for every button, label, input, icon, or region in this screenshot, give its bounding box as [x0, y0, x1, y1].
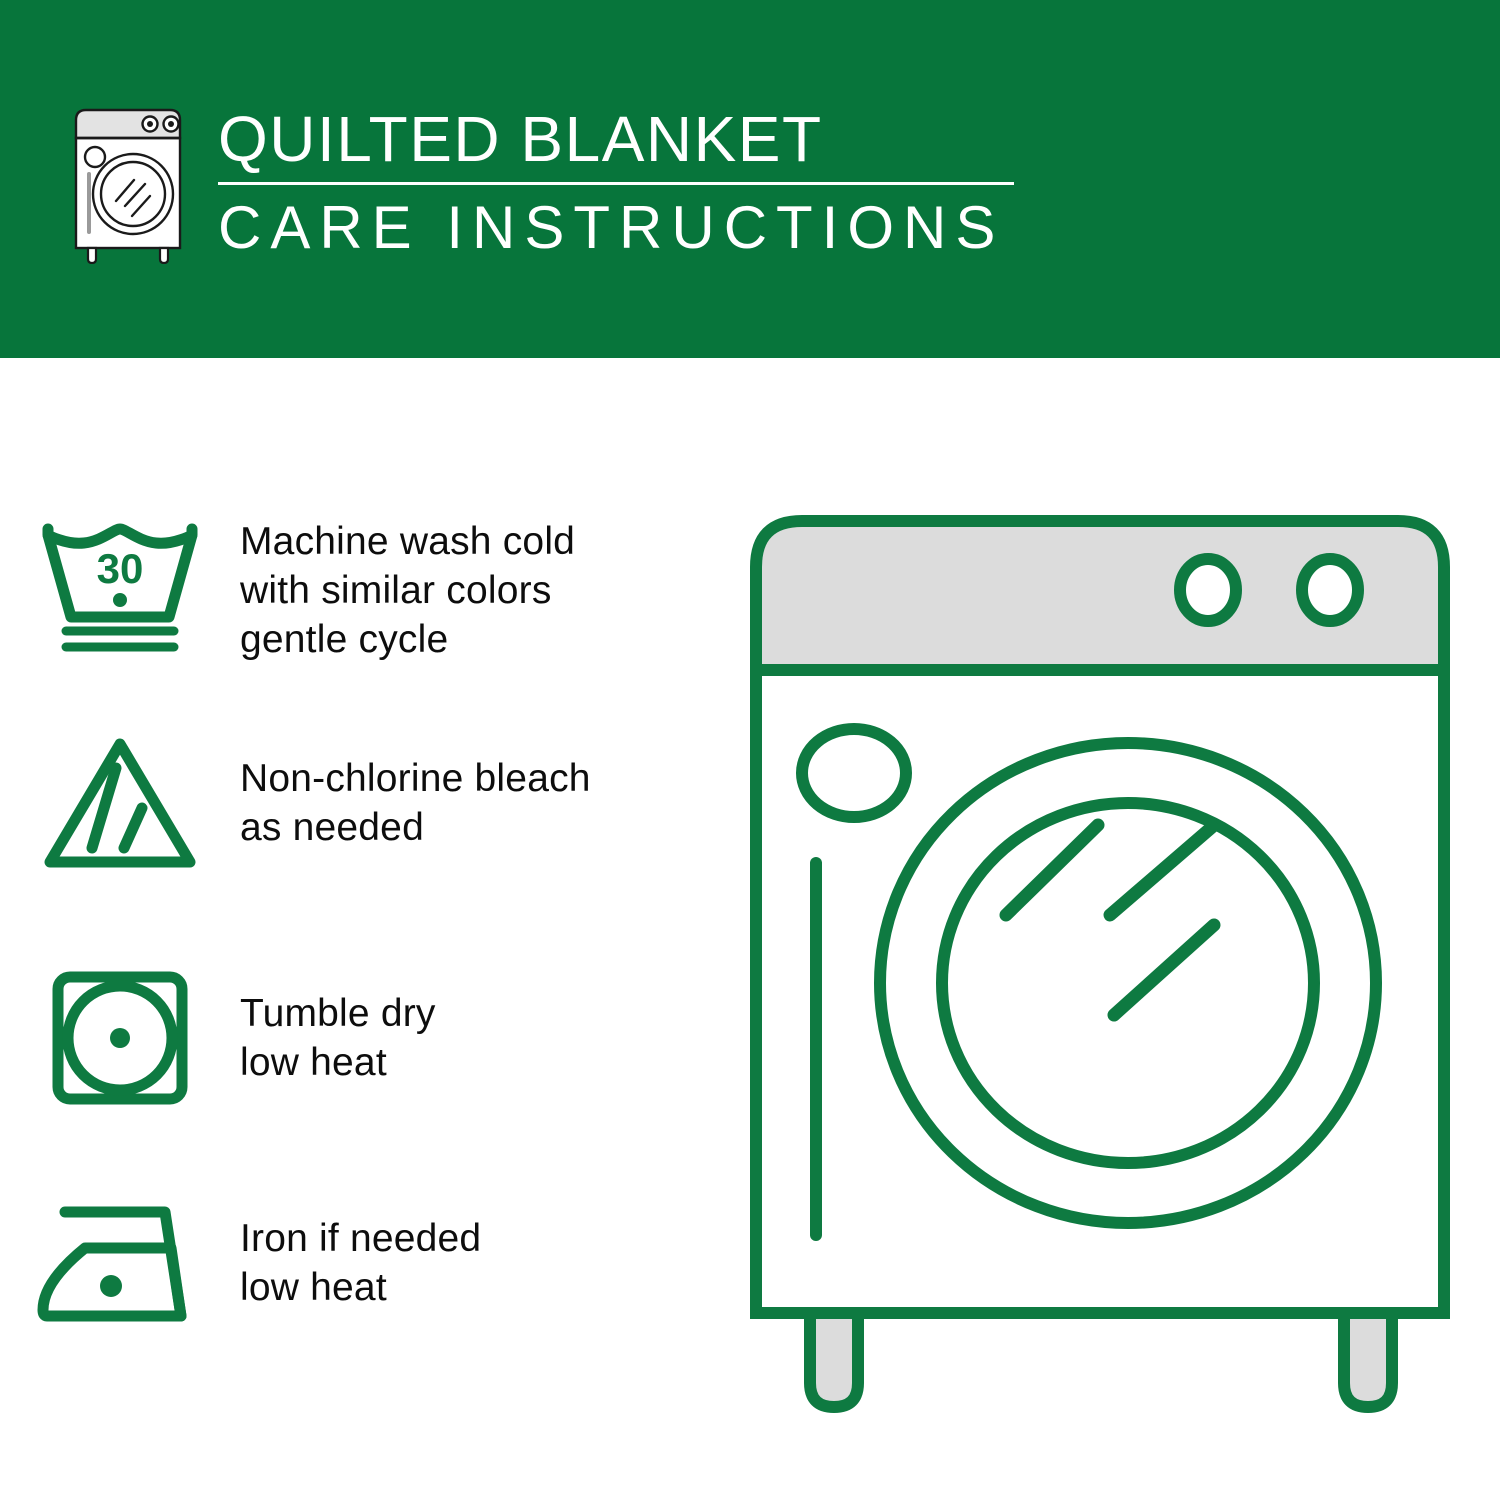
care-item-label: Iron if needed low heat [240, 1188, 481, 1312]
tumble-dry-low-heat-icon [0, 963, 240, 1113]
care-item-label-line: Non-chlorine bleach [240, 754, 591, 803]
care-item-label: Non-chlorine bleach as needed [240, 728, 591, 852]
care-symbol-list: 30 Machine wash cold with similar colors… [0, 358, 720, 1500]
care-item-label-line: Tumble dry [240, 989, 436, 1038]
care-item-tumble-dry: Tumble dry low heat [0, 963, 720, 1113]
care-item-machine-wash: 30 Machine wash cold with similar colors… [0, 513, 720, 664]
title-divider [218, 182, 1014, 185]
page-title: QUILTED BLANKET [218, 100, 1028, 178]
washing-machine-illustration [730, 495, 1470, 1425]
care-item-label-line: as needed [240, 803, 591, 852]
care-instructions-page: QUILTED BLANKET CARE INSTRUCTIONS 30 [0, 0, 1500, 1500]
header-banner: QUILTED BLANKET CARE INSTRUCTIONS [0, 0, 1500, 358]
wash-tub-30-gentle-icon: 30 [0, 513, 240, 663]
care-item-label-line: low heat [240, 1038, 436, 1087]
care-item-label: Tumble dry low heat [240, 963, 436, 1087]
non-chlorine-bleach-triangle-icon [0, 728, 240, 878]
care-item-label-line: Iron if needed [240, 1214, 481, 1263]
care-item-label: Machine wash cold with similar colors ge… [240, 513, 575, 664]
wash-temperature-value: 30 [97, 545, 144, 592]
care-item-label-line: Machine wash cold [240, 517, 575, 566]
care-item-bleach: Non-chlorine bleach as needed [0, 728, 720, 878]
iron-low-heat-icon [0, 1188, 240, 1338]
care-item-label-line: with similar colors [240, 566, 575, 615]
care-item-label-line: gentle cycle [240, 615, 575, 664]
care-item-label-line: low heat [240, 1263, 481, 1312]
washing-machine-logo-icon [62, 104, 194, 264]
care-item-iron: Iron if needed low heat [0, 1188, 720, 1338]
header-title-block: QUILTED BLANKET CARE INSTRUCTIONS [218, 100, 1028, 265]
page-subtitle: CARE INSTRUCTIONS [218, 191, 1028, 265]
